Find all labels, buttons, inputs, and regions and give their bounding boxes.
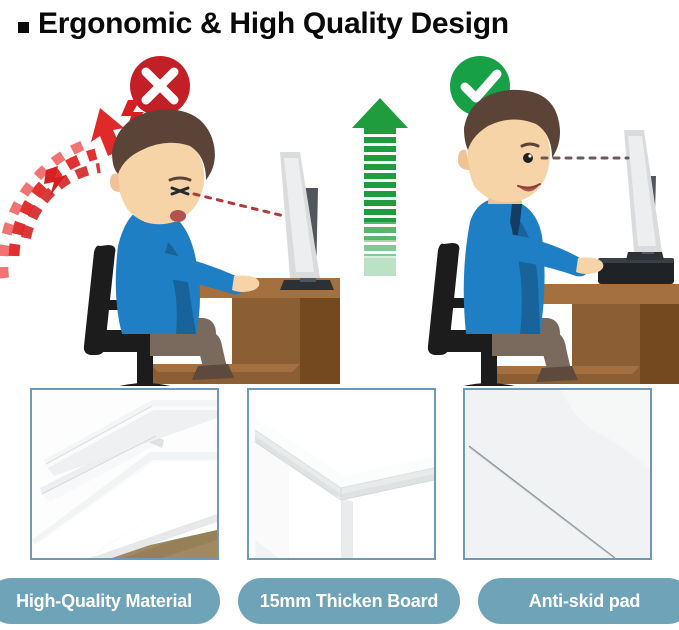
bad-posture-scene — [0, 46, 340, 386]
caption-label: 15mm Thicken Board — [260, 591, 438, 612]
monitor-riser-block-shape — [598, 258, 674, 284]
page-title: Ergonomic & High Quality Design — [38, 9, 509, 39]
green-striped-up-arrow-icon — [352, 98, 408, 278]
square-bullet-icon — [18, 22, 29, 33]
torso-shape — [464, 198, 545, 334]
high-quality-material-photo — [30, 388, 219, 560]
caption-label: High-Quality Material — [16, 591, 192, 612]
monitor-shape — [280, 152, 334, 290]
monitor-shape — [624, 130, 664, 260]
head-shape — [110, 110, 215, 225]
product-photo-row — [0, 388, 679, 566]
downward-dashed-sight-line-icon — [194, 194, 284, 216]
good-posture-scene — [340, 46, 679, 386]
infographic-page: Ergonomic & High Quality Design — [0, 0, 679, 630]
caption-pill-anti-skid-pad: Anti-skid pad — [478, 578, 679, 624]
head-shape — [458, 90, 560, 204]
caption-pill-high-quality-material: High-Quality Material — [0, 578, 220, 624]
caption-row: High-Quality Material 15mm Thicken Board… — [0, 578, 679, 624]
thicken-board-photo — [247, 388, 436, 560]
posture-comparison — [0, 46, 679, 386]
caption-label: Anti-skid pad — [529, 591, 640, 612]
caption-pill-thicken-board: 15mm Thicken Board — [238, 578, 460, 624]
red-pain-arrows-icon — [3, 142, 100, 278]
anti-skid-pad-photo — [463, 388, 652, 560]
red-x-badge-icon — [130, 56, 190, 116]
page-title-row: Ergonomic & High Quality Design — [0, 0, 679, 48]
